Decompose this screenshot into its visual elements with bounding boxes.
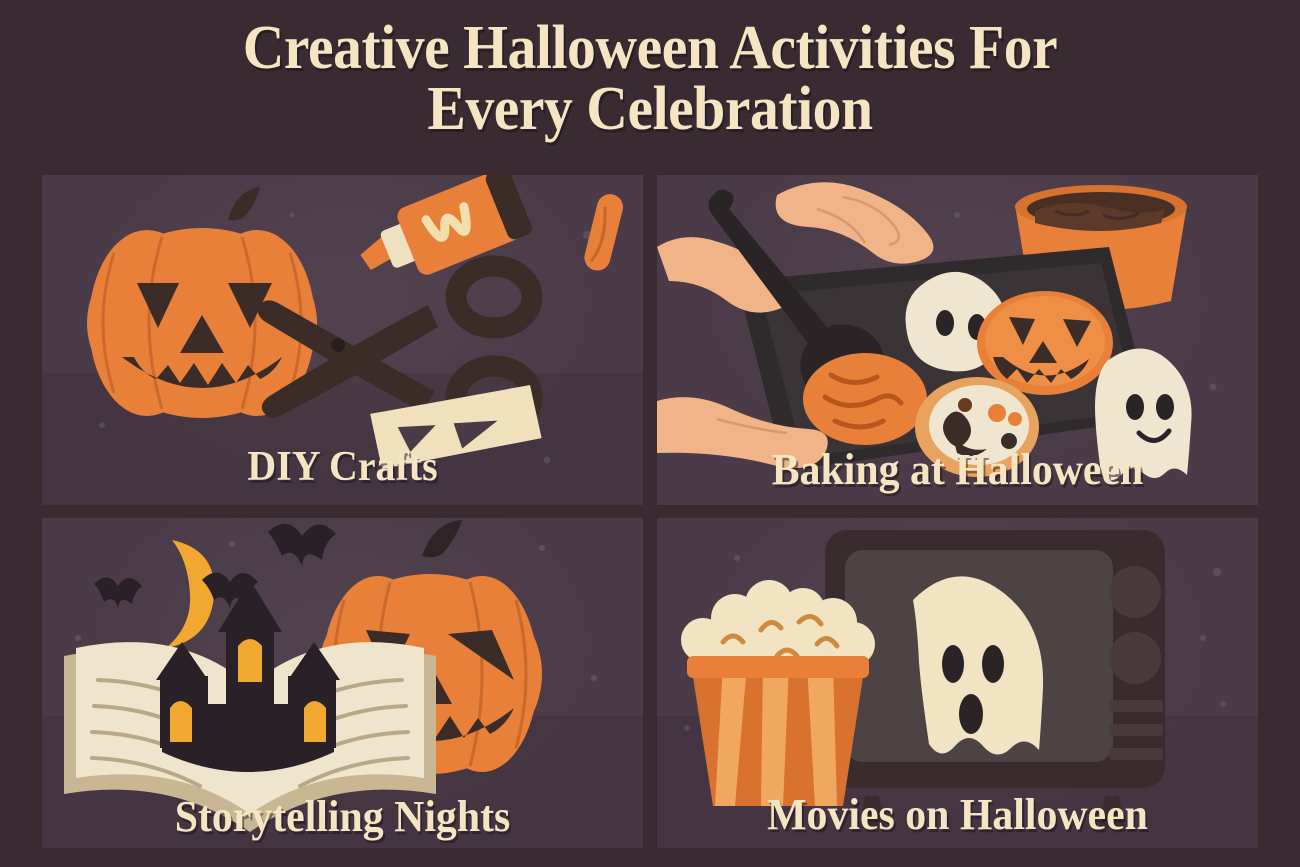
panel-caption: DIY Crafts bbox=[57, 443, 628, 491]
haunted-house-icon bbox=[156, 580, 340, 772]
panel-grid: DIY Crafts bbox=[42, 175, 1258, 848]
bat-icon bbox=[94, 577, 142, 608]
pumpkin-cookie-icon bbox=[977, 291, 1113, 395]
hand-icon bbox=[776, 182, 934, 263]
jack-o-lantern-icon bbox=[87, 187, 317, 418]
panel-storytelling[interactable]: Storytelling Nights bbox=[42, 518, 643, 848]
panel-caption: Movies on Halloween bbox=[672, 789, 1243, 840]
panel-caption: Storytelling Nights bbox=[57, 791, 628, 842]
halloween-activities-poster: Creative Halloween Activities For Every … bbox=[0, 0, 1300, 867]
swirl-cookie-icon bbox=[803, 353, 927, 445]
bat-icon bbox=[268, 524, 336, 566]
crescent-moon-icon bbox=[166, 540, 214, 648]
popcorn-bucket-icon bbox=[681, 580, 875, 806]
panel-caption: Baking at Halloween bbox=[672, 444, 1243, 495]
panel-diy-crafts[interactable]: DIY Crafts bbox=[42, 175, 643, 505]
panel-movies[interactable]: Movies on Halloween bbox=[657, 518, 1258, 848]
page-title: Creative Halloween Activities For Every … bbox=[46, 18, 1255, 140]
panel-baking[interactable]: Baking at Halloween bbox=[657, 175, 1258, 505]
retro-tv-icon bbox=[825, 530, 1165, 828]
